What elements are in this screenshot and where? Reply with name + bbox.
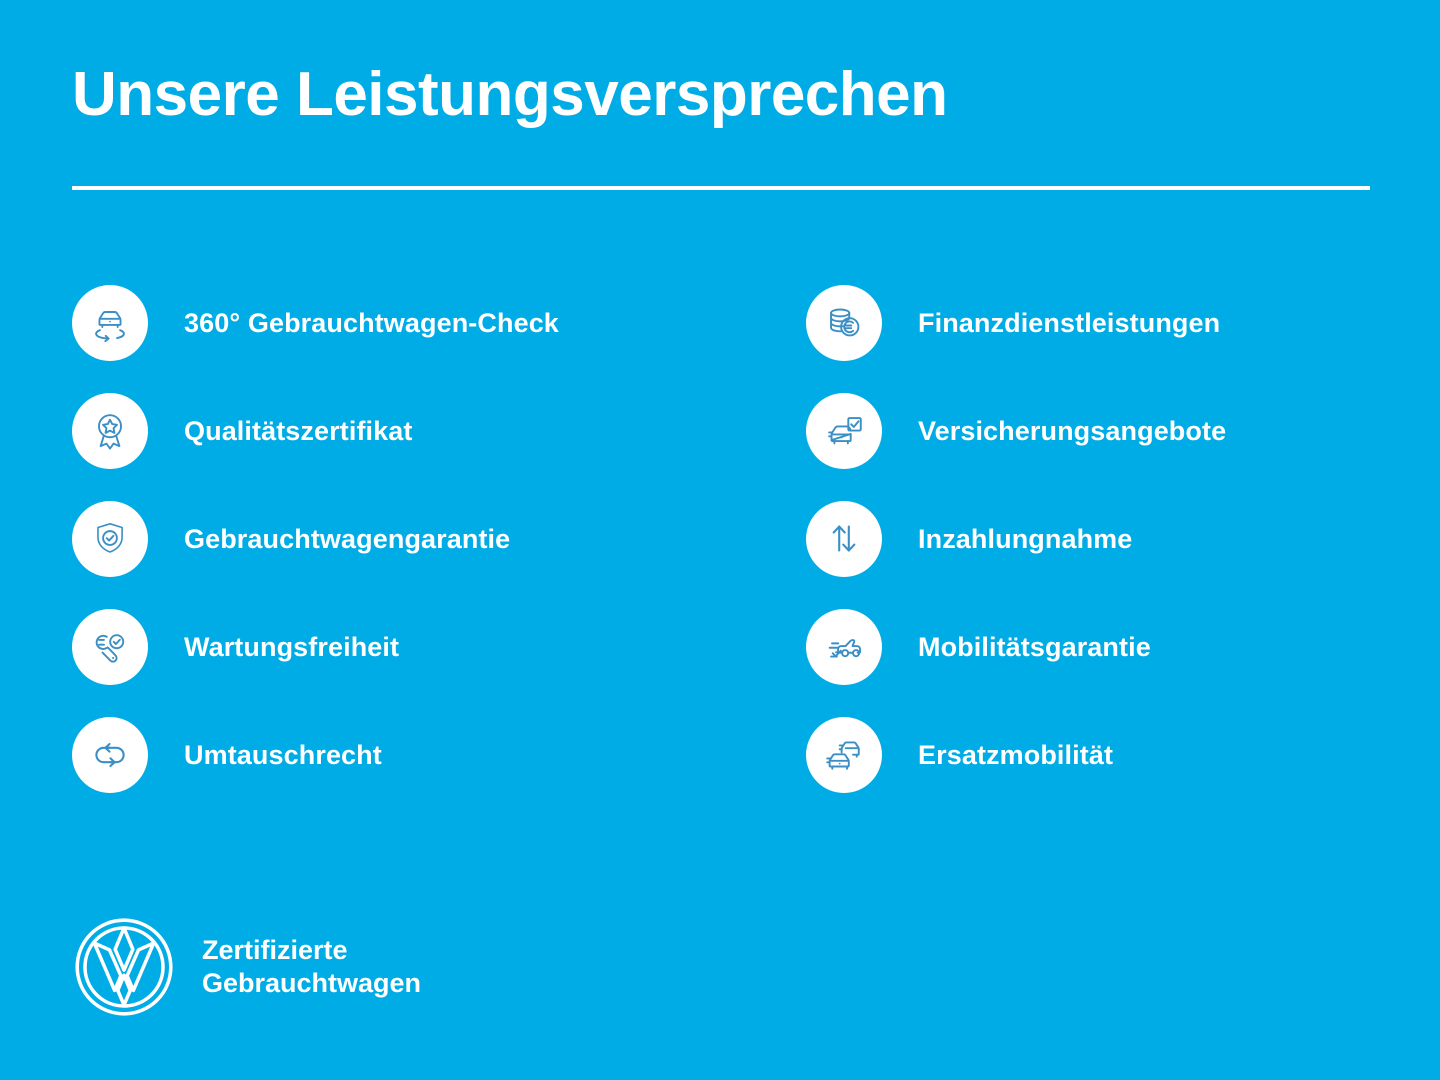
benefit-item-insurance-offers[interactable]: Versicherungsangebote [806, 393, 1426, 469]
slide-root: Unsere Leistungsversprechen [0, 0, 1440, 1080]
brand-footer: Zertifizierte Gebrauchtwagen [72, 915, 421, 1019]
benefit-icon-badge [806, 285, 882, 361]
coins-euro-icon [821, 300, 867, 346]
car-motion-check-icon [821, 624, 867, 670]
benefit-icon-badge [806, 609, 882, 685]
benefits-left-column: 360° Gebrauchtwagen-Check Qualitätszerti… [72, 285, 772, 825]
benefit-item-exchange-right[interactable]: Umtauschrecht [72, 717, 772, 793]
benefit-item-warranty[interactable]: Gebrauchtwagengarantie [72, 501, 772, 577]
exchange-arrows-icon [87, 732, 133, 778]
volkswagen-logo-icon [72, 915, 176, 1019]
benefit-icon-badge [806, 501, 882, 577]
shield-check-icon [87, 516, 133, 562]
brand-line-2: Gebrauchtwagen [202, 967, 421, 1000]
brand-line-1: Zertifizierte [202, 934, 421, 967]
car-checkbox-icon [821, 408, 867, 454]
brand-text: Zertifizierte Gebrauchtwagen [202, 934, 421, 1000]
benefit-label: Mobilitätsgarantie [918, 632, 1151, 663]
page-title: Unsere Leistungsversprechen [72, 62, 1372, 127]
benefit-icon-badge [806, 393, 882, 469]
benefit-label: Gebrauchtwagengarantie [184, 524, 510, 555]
benefit-label: Inzahlungnahme [918, 524, 1132, 555]
benefit-item-360-check[interactable]: 360° Gebrauchtwagen-Check [72, 285, 772, 361]
benefit-icon-badge [72, 285, 148, 361]
benefit-label: Qualitätszertifikat [184, 416, 412, 447]
benefit-label: 360° Gebrauchtwagen-Check [184, 308, 559, 339]
wrench-check-icon [87, 624, 133, 670]
benefit-label: Finanzdienstleistungen [918, 308, 1220, 339]
car-360-check-icon [87, 300, 133, 346]
benefit-label: Umtauschrecht [184, 740, 382, 771]
two-cars-icon [821, 732, 867, 778]
benefit-label: Wartungsfreiheit [184, 632, 399, 663]
benefit-item-trade-in[interactable]: Inzahlungnahme [806, 501, 1426, 577]
benefit-icon-badge [72, 501, 148, 577]
header: Unsere Leistungsversprechen [72, 62, 1372, 127]
up-down-arrows-icon [821, 516, 867, 562]
benefit-item-mobility-guarantee[interactable]: Mobilitätsgarantie [806, 609, 1426, 685]
award-medal-icon [87, 408, 133, 454]
benefit-item-maintenance-free[interactable]: Wartungsfreiheit [72, 609, 772, 685]
benefits-right-column: Finanzdienstleistungen Ver [806, 285, 1426, 825]
title-divider [72, 186, 1370, 190]
benefit-label: Versicherungsangebote [918, 416, 1226, 447]
volkswagen-logo [72, 915, 176, 1019]
benefit-item-replacement-mobility[interactable]: Ersatzmobilität [806, 717, 1426, 793]
benefit-icon-badge [806, 717, 882, 793]
benefit-icon-badge [72, 393, 148, 469]
benefit-item-financial-services[interactable]: Finanzdienstleistungen [806, 285, 1426, 361]
benefit-label: Ersatzmobilität [918, 740, 1113, 771]
benefit-icon-badge [72, 609, 148, 685]
benefit-item-quality-certificate[interactable]: Qualitätszertifikat [72, 393, 772, 469]
benefit-icon-badge [72, 717, 148, 793]
